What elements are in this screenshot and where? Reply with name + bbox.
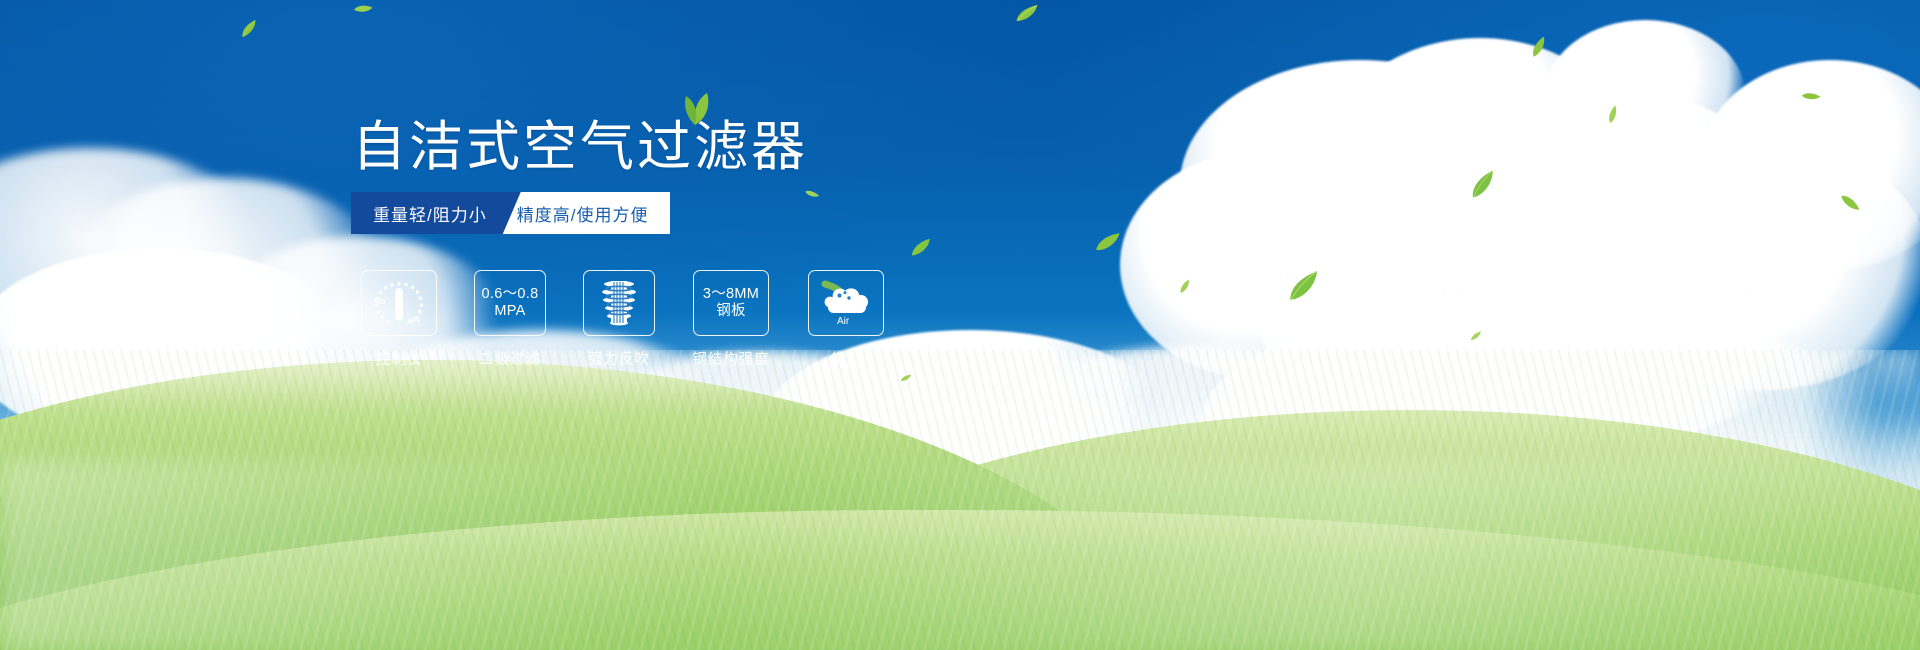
banner-content: 自洁式空气过滤器 重量轻/阻力小 精度高/使用方便 (0, 0, 1920, 650)
steel-plate-text-icon: 3～8MM 钢板 (703, 286, 759, 320)
feature-item-control-gauge[interactable]: NO OFF 控制仪 (358, 270, 440, 369)
feature-icon-box: 0.6～0.8 MPA (474, 270, 546, 336)
filter-stack-icon (593, 277, 645, 329)
svg-text:OFF: OFF (408, 318, 421, 325)
gauge-icon: NO OFF (368, 276, 430, 330)
pressure-unit: MPA (482, 303, 539, 320)
feature-caption: 二级过滤 (479, 348, 541, 369)
tab-feature-2-label: 精度高/使用方便 (517, 201, 649, 226)
pressure-text-icon: 0.6～0.8 MPA (482, 286, 539, 320)
product-banner: 自洁式空气过滤器 重量轻/阻力小 精度高/使用方便 (0, 0, 1920, 650)
feature-caption: 钢结构强度 (692, 348, 770, 369)
feature-icon-box: 3～8MM 钢板 (693, 270, 769, 336)
feature-icon-row: NO OFF 控制仪 0.6～0.8 MPA 二级过滤 (358, 270, 888, 369)
tab-feature-1-label: 重量轻/阻力小 (373, 201, 487, 226)
pressure-value: 0.6～0.8 (482, 286, 539, 303)
tab-feature-2[interactable]: 精度高/使用方便 (503, 192, 671, 234)
feature-icon-box (583, 270, 655, 336)
page-title: 自洁式空气过滤器 (352, 118, 808, 176)
air-label: Air (837, 316, 850, 327)
tab-feature-1[interactable]: 重量轻/阻力小 (351, 192, 521, 234)
feature-item-pressure[interactable]: 0.6～0.8 MPA 二级过滤 (470, 270, 550, 369)
feature-caption: 强力反吹 (588, 348, 650, 369)
steel-thickness: 3～8MM (703, 286, 759, 303)
feature-icon-box: NO OFF (361, 270, 437, 336)
subtitle-tabs: 重量轻/阻力小 精度高/使用方便 (351, 192, 670, 234)
feature-item-dust-collection[interactable]: Air 集尘 (804, 270, 888, 369)
air-cloud-icon: Air (817, 278, 875, 328)
feature-item-backblow[interactable]: 强力反吹 (580, 270, 658, 369)
steel-material: 钢板 (703, 303, 759, 320)
feature-caption: 集尘 (831, 348, 862, 369)
feature-item-steel-plate[interactable]: 3～8MM 钢板 钢结构强度 (688, 270, 774, 369)
feature-caption: 控制仪 (376, 348, 423, 369)
svg-text:NO: NO (374, 297, 385, 306)
feature-icon-box: Air (808, 270, 884, 336)
